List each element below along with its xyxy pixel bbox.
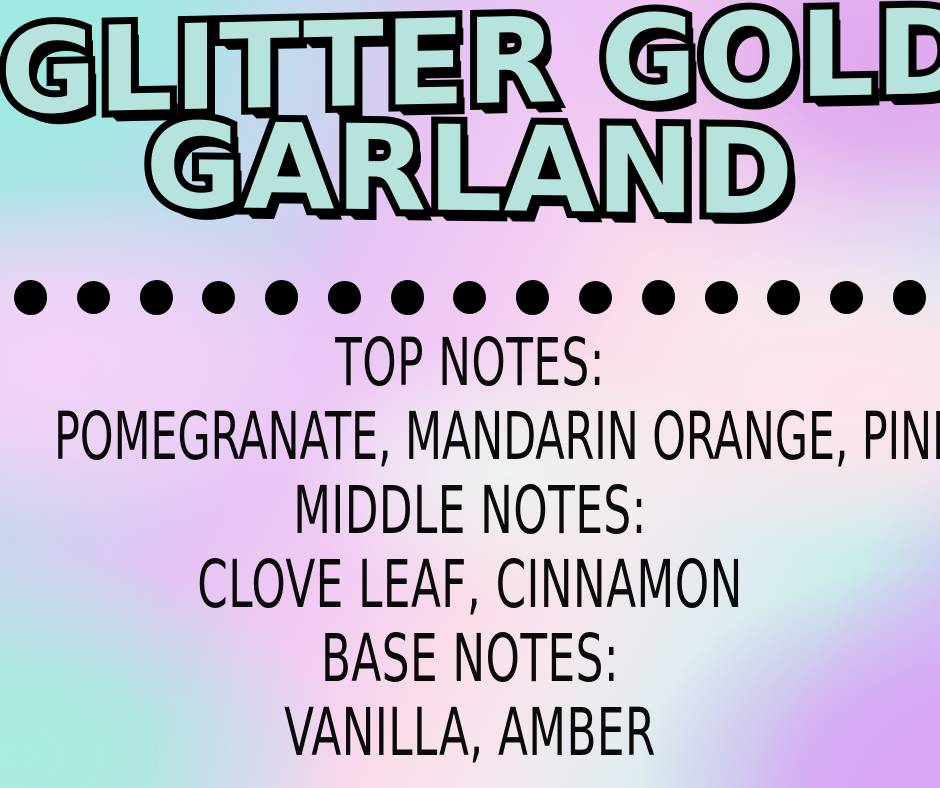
divider-dot-icon — [265, 280, 298, 315]
divider-dot-icon — [705, 281, 738, 314]
divider-dot-icon — [830, 281, 863, 314]
dot-divider — [0, 278, 940, 316]
divider-dot-icon — [328, 281, 361, 314]
middle-notes-heading: MIDDLE NOTES: — [47, 478, 893, 544]
divider-dot-icon — [202, 281, 235, 314]
poster-title-line-2: GARLAND — [0, 108, 940, 231]
divider-dot-icon — [767, 280, 800, 315]
divider-dot-icon — [893, 280, 926, 315]
middle-notes-value: CLOVE LEAF, CINNAMON — [47, 552, 893, 618]
divider-dot-icon — [391, 280, 424, 315]
divider-dot-icon — [453, 281, 486, 314]
fragrance-notes: TOP NOTES: POMEGRANATE, MANDARIN ORANGE,… — [0, 330, 940, 754]
base-notes-value: VANILLA, AMBER — [47, 700, 893, 766]
divider-dot-icon — [579, 281, 612, 314]
divider-dot-icon — [642, 280, 675, 315]
base-notes-heading: BASE NOTES: — [47, 626, 893, 692]
top-notes-heading: TOP NOTES: — [47, 330, 893, 396]
divider-dot-icon — [14, 280, 47, 315]
poster-canvas: GLITTER GOLD & GARLAND TOP NOTES: POMEGR… — [0, 0, 940, 788]
divider-dot-icon — [140, 280, 173, 315]
divider-dot-icon — [516, 280, 549, 315]
poster-title: GLITTER GOLD & GARLAND — [0, 6, 940, 227]
divider-dot-icon — [77, 281, 110, 314]
top-notes-value: POMEGRANATE, MANDARIN ORANGE, PINE — [54, 404, 886, 470]
